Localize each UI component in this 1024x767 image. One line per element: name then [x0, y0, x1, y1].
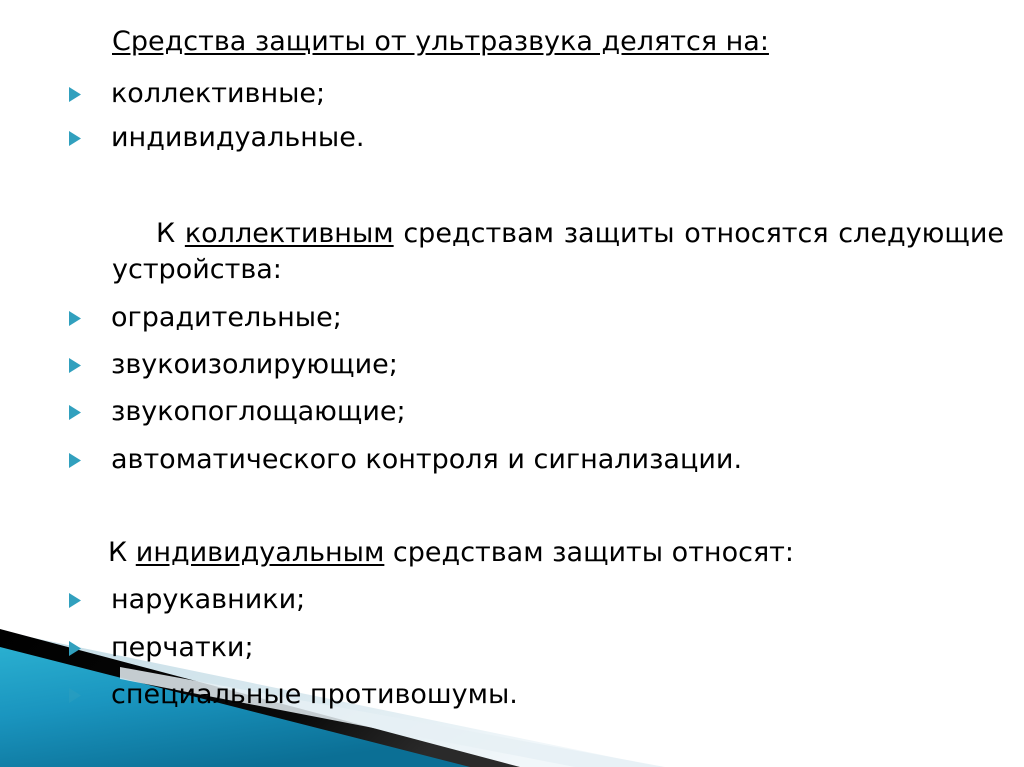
list-item: индивидуальные.	[68, 118, 968, 158]
page-title-text: Средства защиты от ультразвука делятся н…	[112, 26, 769, 57]
list-item: автоматического контроля и сигнализации.	[68, 440, 968, 480]
triangle-right-icon	[68, 640, 82, 657]
paragraph-individual-lead: К	[108, 537, 136, 568]
list-item: коллективные;	[68, 74, 968, 114]
list-item: звукоизолирующие;	[68, 345, 968, 385]
triangle-right-icon	[68, 452, 82, 469]
list-item-label: индивидуальные.	[111, 122, 968, 154]
list-item: звукопоглощающие;	[68, 392, 968, 432]
paragraph-collective-lead: К	[156, 218, 185, 249]
triangle-right-icon	[68, 357, 82, 374]
triangle-right-icon	[68, 130, 82, 147]
list-item-label: автоматического контроля и сигнализации.	[111, 444, 968, 476]
paragraph-individual-tail: средствам защиты относят:	[384, 537, 794, 568]
list-item-label: коллективные;	[111, 78, 968, 110]
list-item: перчатки;	[68, 628, 968, 668]
paragraph-collective: К коллективным средствам защиты относятс…	[68, 216, 960, 288]
triangle-right-icon	[68, 404, 82, 421]
list-item: специальные противошумы.	[68, 675, 968, 715]
triangle-right-icon	[68, 86, 82, 103]
triangle-right-icon	[68, 592, 82, 609]
paragraph-individual-emphasis: индивидуальным	[136, 537, 385, 568]
list-item-label: специальные противошумы.	[111, 679, 968, 711]
list-item: нарукавники;	[68, 580, 968, 620]
list-item-label: оградительные;	[111, 302, 968, 334]
page-title: Средства защиты от ультразвука делятся н…	[112, 24, 992, 60]
list-item-label: нарукавники;	[111, 584, 968, 616]
list-item-label: звукопоглощающие;	[111, 396, 968, 428]
triangle-right-icon	[68, 310, 82, 327]
paragraph-collective-emphasis: коллективным	[185, 218, 394, 249]
list-item: оградительные;	[68, 298, 968, 338]
list-item-label: звукоизолирующие;	[111, 349, 968, 381]
paragraph-individual: К индивидуальным средствам защиты относя…	[68, 535, 960, 571]
presentation-slide: Средства защиты от ультразвука делятся н…	[0, 0, 1024, 767]
list-item-label: перчатки;	[111, 632, 968, 664]
triangle-right-icon	[68, 687, 82, 704]
